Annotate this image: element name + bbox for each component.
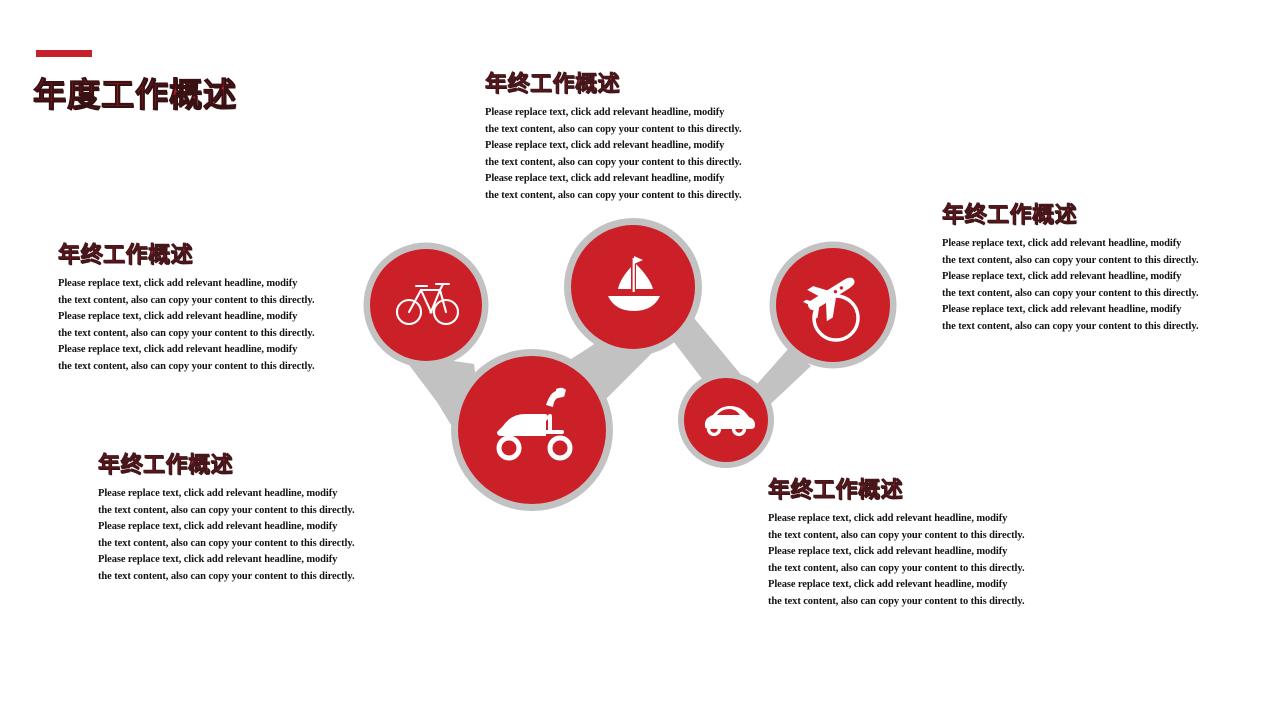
body-line: Please replace text, click add relevant … (98, 552, 398, 569)
body-line: the text content, also can copy your con… (58, 326, 358, 343)
block-heading: 年终工作概述 (58, 237, 358, 269)
body-line: Please replace text, click add relevant … (942, 236, 1242, 253)
body-line: Please replace text, click add relevant … (768, 544, 1068, 561)
body-line: the text content, also can copy your con… (942, 253, 1242, 270)
title-accent-bar (36, 50, 92, 57)
body-line: the text content, also can copy your con… (768, 561, 1068, 578)
block-heading: 年终工作概述 (768, 472, 1068, 504)
node-scooter[interactable] (451, 349, 613, 511)
body-line: the text content, also can copy your con… (768, 594, 1068, 611)
node-airplane[interactable] (770, 242, 897, 369)
body-line: the text content, also can copy your con… (768, 528, 1068, 545)
node-sailboat[interactable] (564, 218, 702, 356)
slide-canvas: 年度工作概述 (0, 0, 1280, 720)
bicycle-circle (370, 249, 482, 361)
body-line: Please replace text, click add relevant … (58, 276, 358, 293)
body-line: Please replace text, click add relevant … (58, 342, 358, 359)
body-line: Please replace text, click add relevant … (942, 269, 1242, 286)
text-block-left[interactable]: 年终工作概述 Please replace text, click add re… (58, 237, 358, 375)
block-heading: 年终工作概述 (942, 197, 1242, 229)
block-body: Please replace text, click add relevant … (485, 105, 775, 204)
body-line: Please replace text, click add relevant … (942, 302, 1242, 319)
body-line: the text content, also can copy your con… (485, 122, 775, 139)
body-line: the text content, also can copy your con… (485, 155, 775, 172)
text-block-bottom-left[interactable]: 年终工作概述 Please replace text, click add re… (98, 447, 398, 585)
page-title: 年度工作概述 (33, 68, 237, 116)
block-heading: 年终工作概述 (98, 447, 398, 479)
body-line: Please replace text, click add relevant … (485, 105, 775, 122)
body-line: Please replace text, click add relevant … (485, 171, 775, 188)
body-line: the text content, also can copy your con… (98, 503, 398, 520)
block-body: Please replace text, click add relevant … (98, 486, 398, 585)
text-block-bottom-right[interactable]: 年终工作概述 Please replace text, click add re… (768, 472, 1068, 610)
block-body: Please replace text, click add relevant … (942, 236, 1242, 335)
body-line: the text content, also can copy your con… (98, 569, 398, 586)
block-body: Please replace text, click add relevant … (768, 511, 1068, 610)
body-line: the text content, also can copy your con… (942, 319, 1242, 336)
body-line: Please replace text, click add relevant … (768, 511, 1068, 528)
body-line: the text content, also can copy your con… (942, 286, 1242, 303)
body-line: Please replace text, click add relevant … (768, 577, 1068, 594)
node-bicycle[interactable] (364, 243, 489, 368)
body-line: the text content, also can copy your con… (58, 293, 358, 310)
block-body: Please replace text, click add relevant … (58, 276, 358, 375)
body-line: Please replace text, click add relevant … (485, 138, 775, 155)
body-line: the text content, also can copy your con… (485, 188, 775, 205)
text-block-right[interactable]: 年终工作概述 Please replace text, click add re… (942, 197, 1242, 335)
body-line: the text content, also can copy your con… (58, 359, 358, 376)
text-block-top[interactable]: 年终工作概述 Please replace text, click add re… (485, 66, 775, 204)
body-line: the text content, also can copy your con… (98, 536, 398, 553)
body-line: Please replace text, click add relevant … (98, 519, 398, 536)
block-heading: 年终工作概述 (485, 66, 775, 98)
body-line: Please replace text, click add relevant … (98, 486, 398, 503)
body-line: Please replace text, click add relevant … (58, 309, 358, 326)
node-car[interactable] (678, 372, 774, 468)
